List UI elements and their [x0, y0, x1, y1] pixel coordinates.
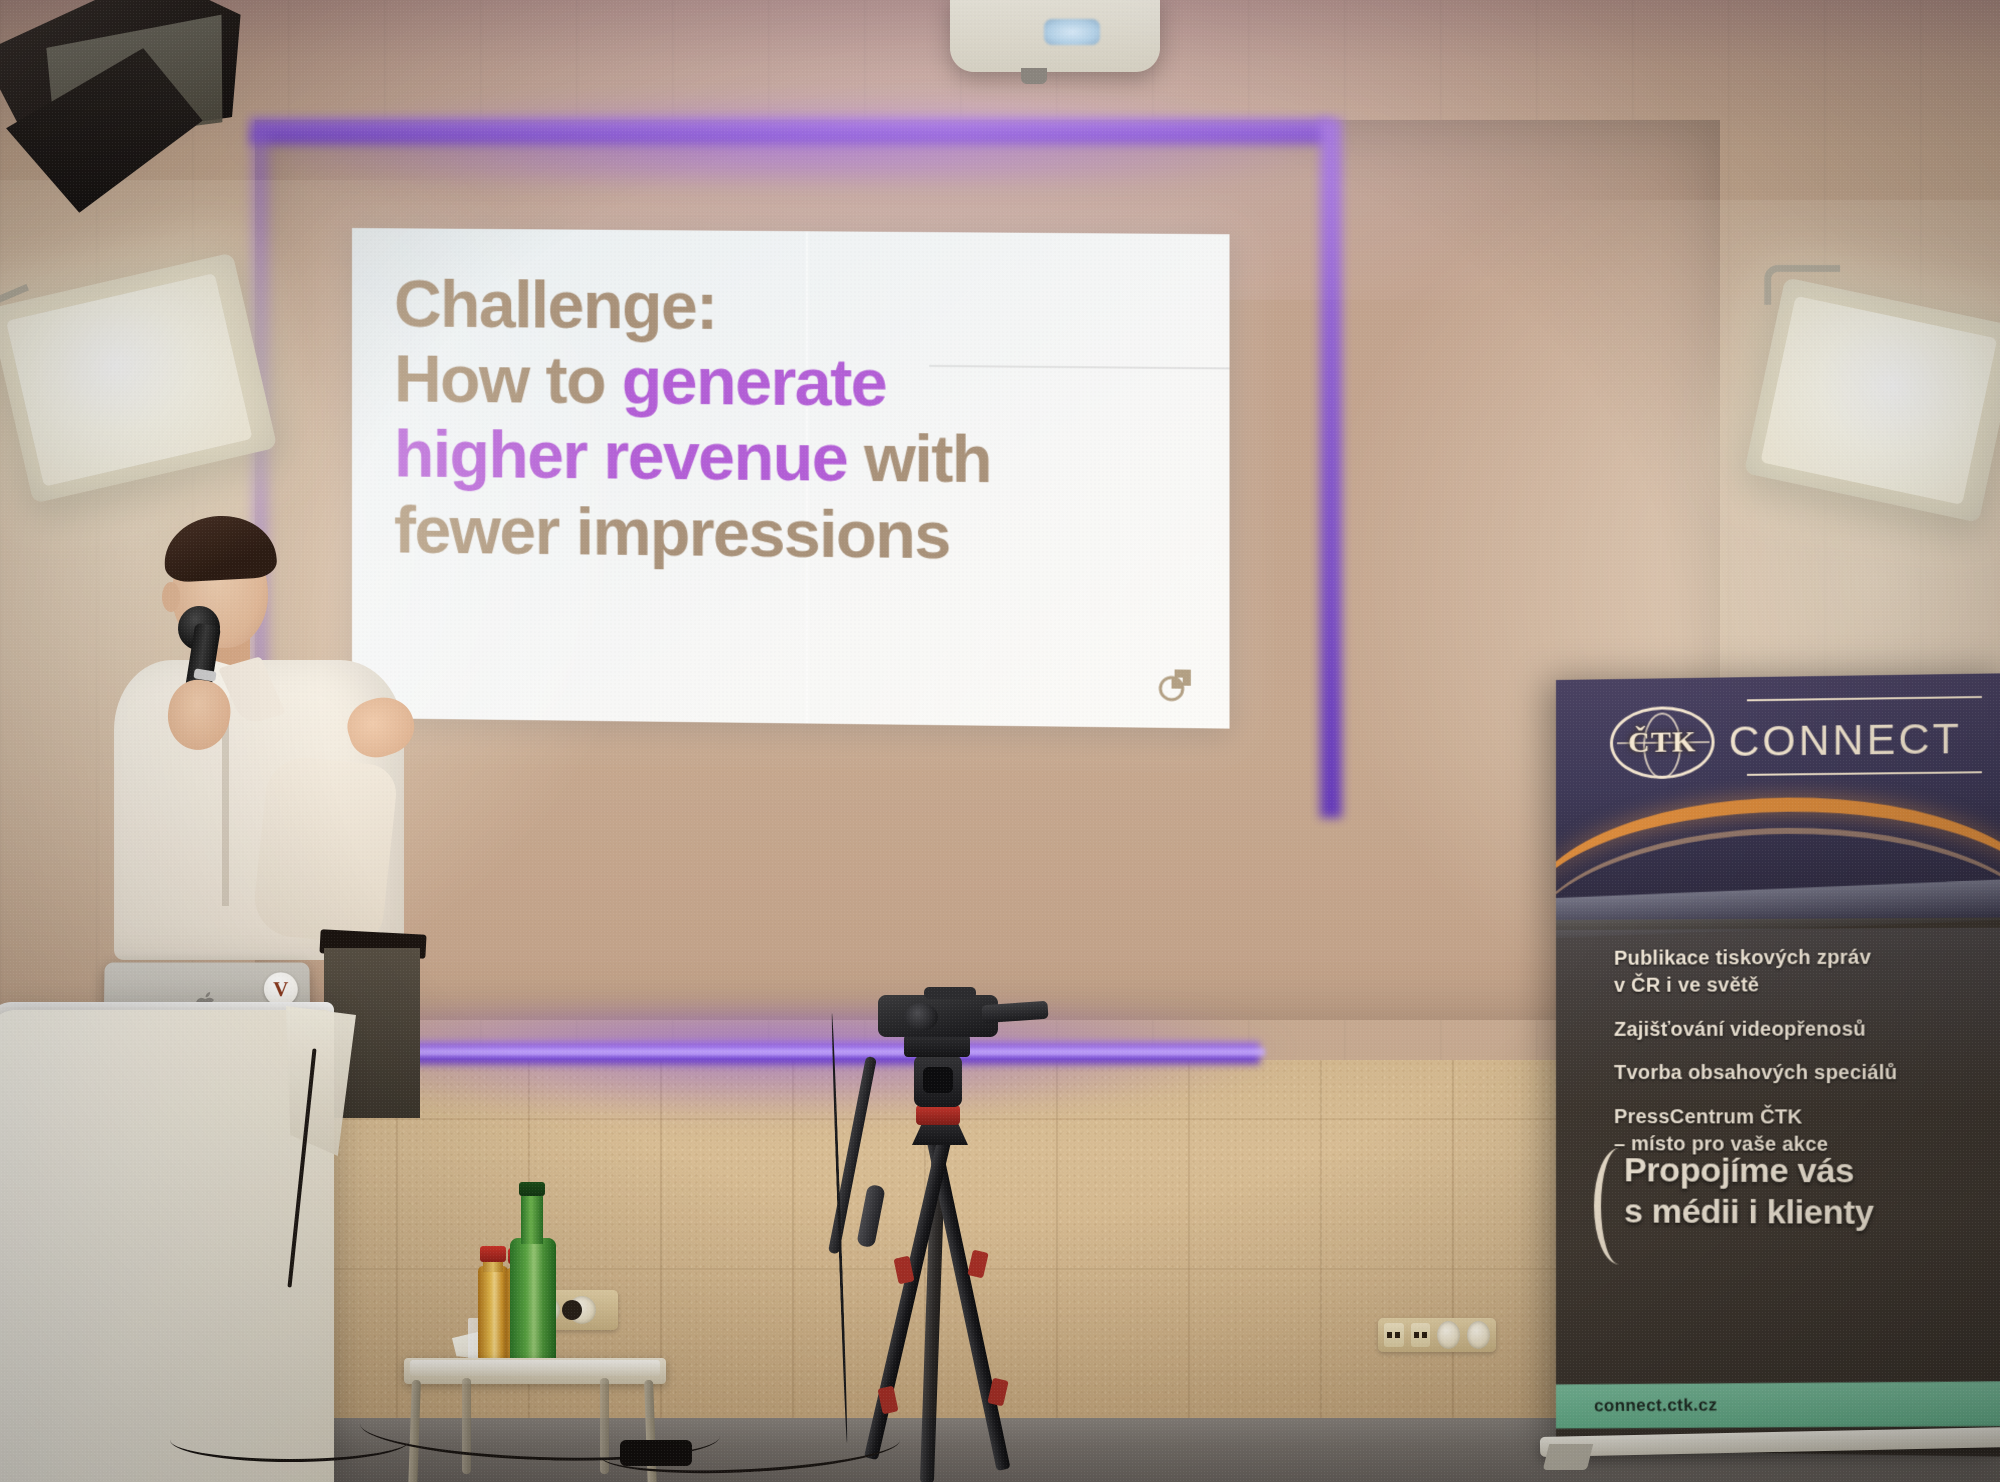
- speaker-person: [110, 520, 410, 990]
- bottle-neck: [521, 1192, 543, 1244]
- presentation-photo-scene: Challenge: How to generate higher revenu…: [0, 0, 2000, 1482]
- podium: [0, 1010, 334, 1482]
- slide-line-3: higher revenue with: [394, 417, 1209, 500]
- projector-mount: [1021, 68, 1047, 84]
- light-switch-icon[interactable]: [1384, 1323, 1404, 1347]
- tripod-leg-lock[interactable]: [967, 1250, 988, 1279]
- plugged-cable-head: [562, 1300, 582, 1320]
- banner-url: connect.ctk.cz: [1594, 1395, 1718, 1416]
- banner-bullet-list: Publikace tiskových zpráv v ČR i ve svět…: [1614, 944, 2000, 1177]
- green-glass-bottle: [510, 1238, 556, 1364]
- slide-line-2: How to generate: [394, 342, 1209, 425]
- led-strip-top: [250, 118, 1330, 144]
- bottle-cap: [480, 1246, 506, 1262]
- slide-line-4: fewer impressions: [394, 492, 1209, 576]
- tripod-fluid-head: [914, 1055, 962, 1107]
- floor-power-brick: [620, 1440, 692, 1466]
- tripod-spreader: [912, 1123, 968, 1145]
- banner-bullet-1: Publikace tiskových zpráv v ČR i ve svět…: [1614, 944, 2000, 1000]
- speaker-ear: [162, 582, 180, 612]
- banner-claim-line-2: s médii i klienty: [1624, 1191, 2000, 1234]
- banner-bullet-3: Tvorba obsahových speciálů: [1614, 1060, 2000, 1087]
- led-strip-right: [1320, 118, 1342, 818]
- speaker-hair: [162, 513, 277, 583]
- juice-bottle: [478, 1266, 508, 1362]
- video-camera: [878, 995, 998, 1037]
- slide-line-1: Challenge:: [394, 266, 1209, 348]
- power-socket-icon: [1437, 1321, 1460, 1349]
- ctk-globe-icon: ČTK: [1610, 706, 1715, 780]
- bottle-cap: [519, 1182, 545, 1196]
- wall-power-socket-group: [1378, 1318, 1496, 1352]
- tripod-collar: [916, 1105, 960, 1125]
- camera-top-handle: [924, 987, 976, 999]
- speaker-right-arm: [251, 754, 399, 947]
- camera-tripod: [820, 995, 1050, 1482]
- laptop-sticker: V: [264, 972, 298, 1006]
- light-switch-icon[interactable]: [1411, 1323, 1431, 1347]
- projector-lens-icon: [1044, 19, 1100, 45]
- rollup-banner: ČTK CONNECT Publikace tiskových zpráv v …: [1556, 673, 2000, 1457]
- tripod-pan-grip[interactable]: [856, 1184, 885, 1248]
- banner-claim: Propojíme vás s médii i klienty: [1624, 1150, 2000, 1234]
- ceiling-projector: [950, 0, 1160, 72]
- projection-screen: Challenge: How to generate higher revenu…: [352, 228, 1230, 729]
- ctk-wordmark: ČTK: [1628, 725, 1696, 760]
- pie-square-logo: [1154, 661, 1199, 706]
- banner-url-strip: connect.ctk.cz: [1556, 1381, 2000, 1428]
- camera-grip: [981, 1001, 1048, 1024]
- banner-bullet-2: Zajišťování videopřenosů: [1614, 1016, 2000, 1044]
- tripod-head-plate: [904, 1035, 970, 1057]
- connect-wordmark: CONNECT: [1729, 715, 1962, 766]
- table-glass-surface: [410, 1360, 660, 1376]
- banner-claim-line-1: Propojíme vás: [1624, 1150, 2000, 1193]
- camera-lens-icon: [904, 1003, 938, 1031]
- lamp-yoke: [1764, 265, 1840, 305]
- ctk-connect-logo: ČTK CONNECT: [1610, 702, 1962, 779]
- slide-headline: Challenge: How to generate higher revenu…: [394, 266, 1209, 576]
- banner-foot: [1543, 1444, 1593, 1470]
- power-socket-icon: [1467, 1321, 1490, 1349]
